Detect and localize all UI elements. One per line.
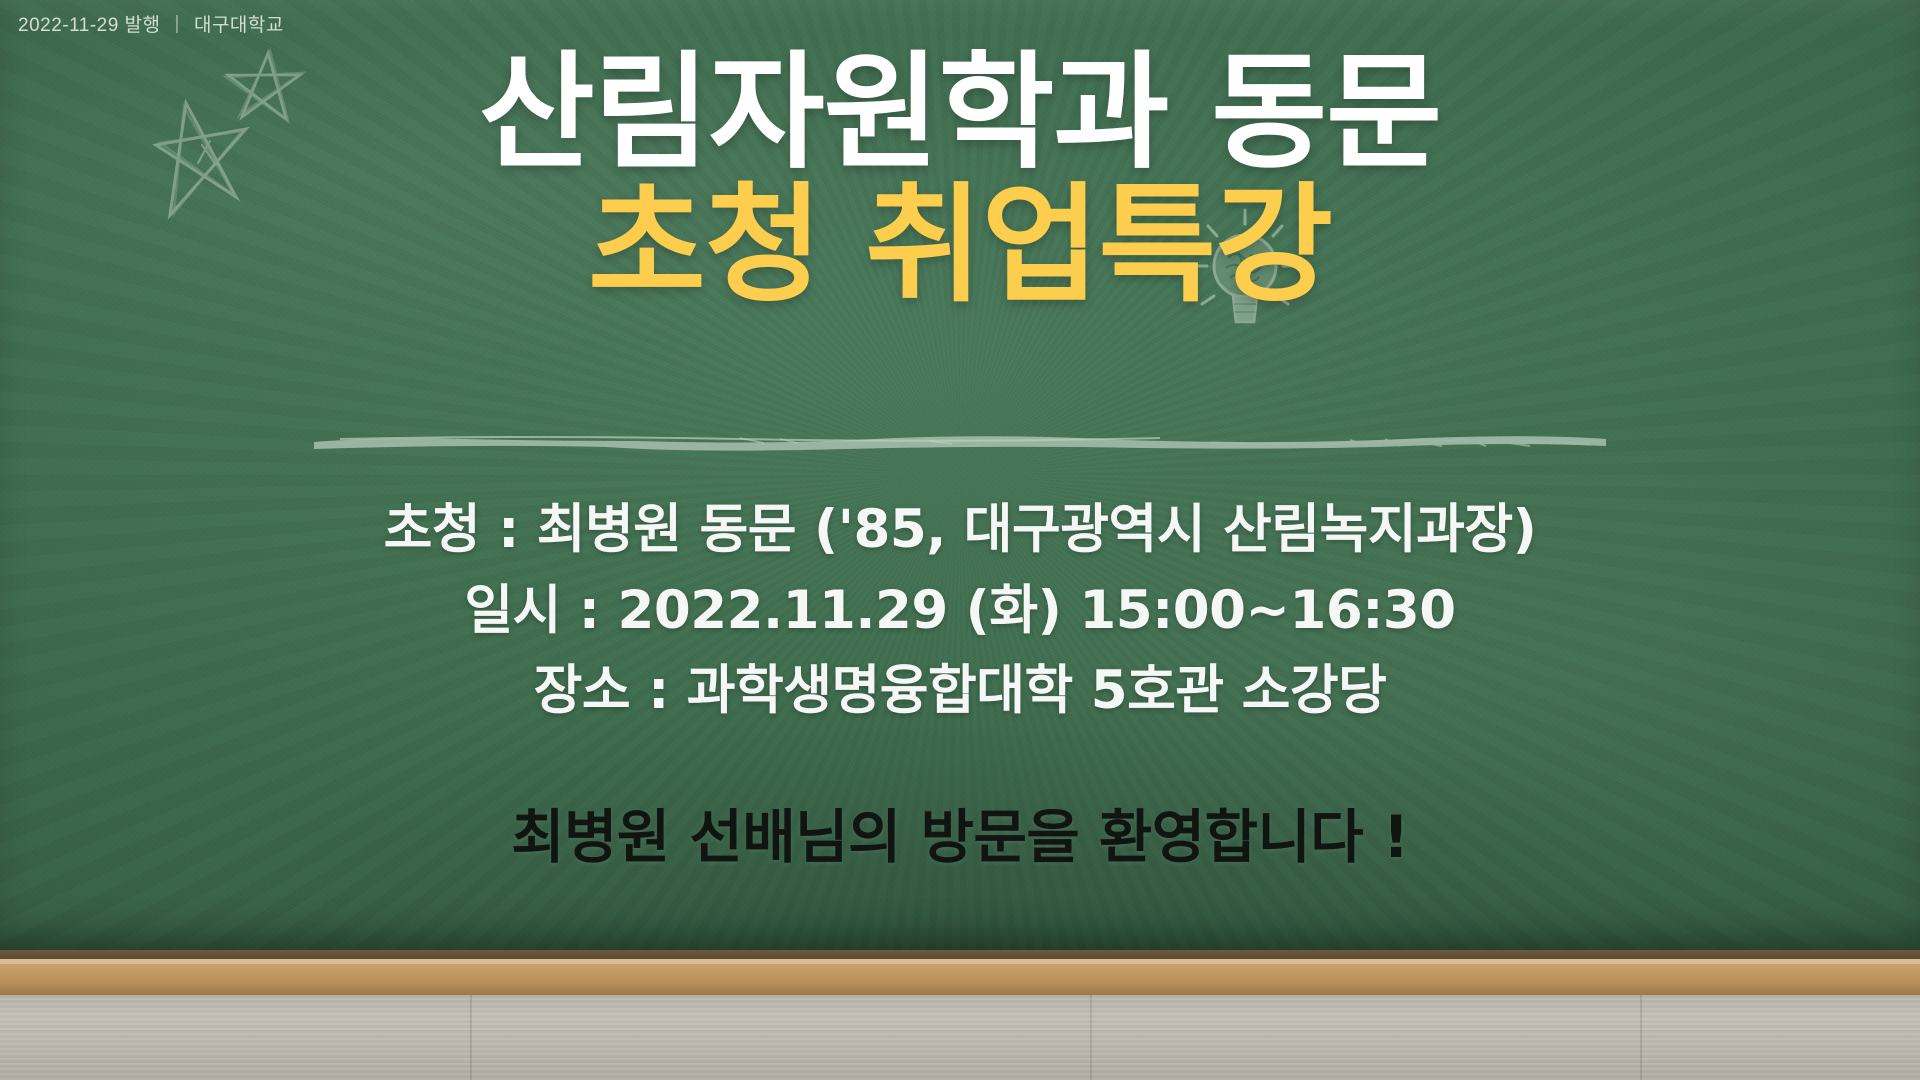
organization-name: 대구대학교 — [194, 10, 284, 37]
welcome-message: 최병원 선배님의 방문을 환영합니다 ! — [0, 790, 1920, 874]
meta-separator: | — [175, 13, 180, 35]
event-info-block: 초청 : 최병원 동문 ('85, 대구광역시 산림녹지과장) 일시 : 202… — [0, 490, 1920, 732]
info-line-speaker: 초청 : 최병원 동문 ('85, 대구광역시 산림녹지과장) — [0, 490, 1920, 571]
floor-seam — [470, 995, 472, 1080]
issue-date: 2022-11-29 발행 — [18, 10, 161, 37]
info-line-location: 장소 : 과학생명융합대학 5호관 소강당 — [0, 651, 1920, 732]
floor-seam — [1090, 995, 1092, 1080]
chalk-ledge-highlight — [0, 959, 1920, 964]
poster-titles: 산림자원학과 동문 초청 취업특강 — [0, 42, 1920, 315]
title-line-1: 산림자원학과 동문 — [0, 42, 1920, 183]
title-line-2: 초청 취업특강 — [0, 177, 1920, 315]
header-meta: 2022-11-29 발행 | 대구대학교 — [18, 10, 284, 37]
info-line-datetime: 일시 : 2022.11.29 (화) 15:00~16:30 — [0, 571, 1920, 652]
chalk-ledge — [0, 959, 1920, 995]
floor-seam — [1640, 995, 1642, 1080]
floor-grain-texture — [0, 995, 1920, 1080]
poster-stage: 2022-11-29 발행 | 대구대학교 — [0, 0, 1920, 1080]
board-frame-top — [0, 950, 1920, 959]
